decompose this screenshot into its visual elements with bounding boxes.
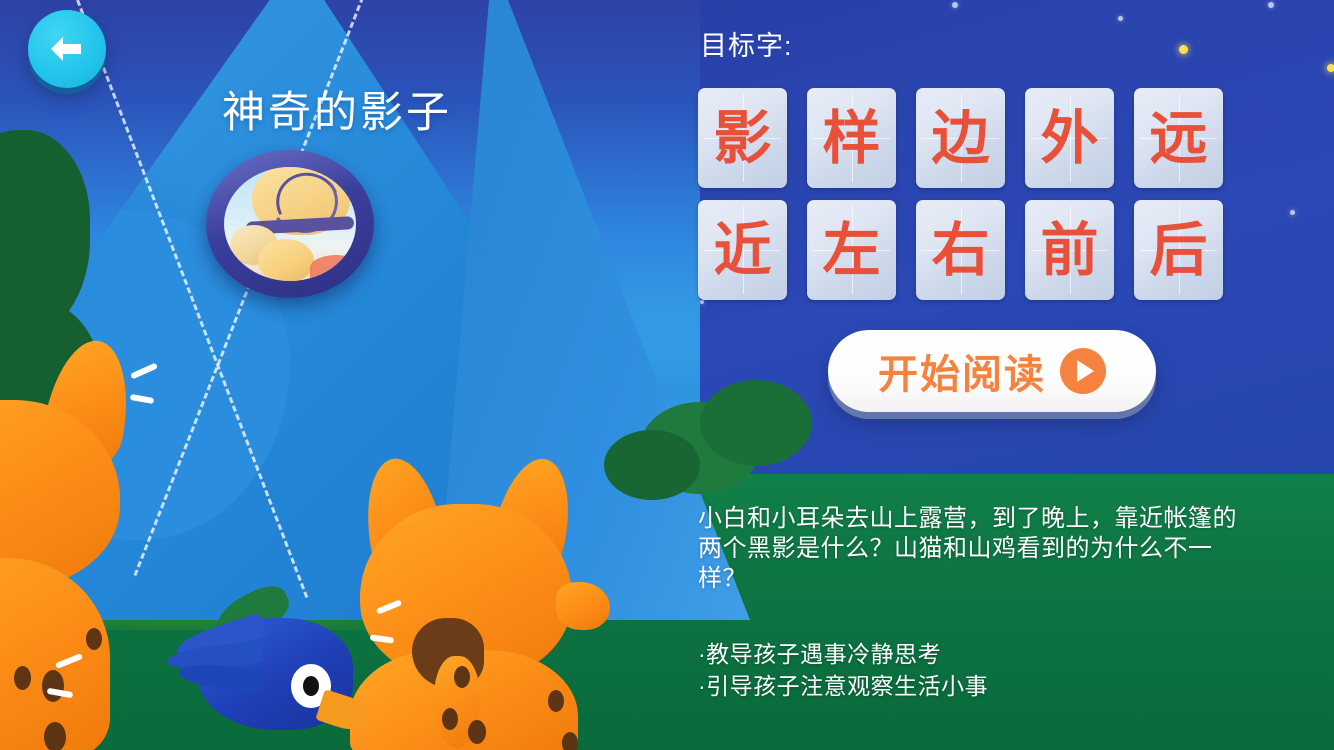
- target-chars-label: 目标字:: [700, 24, 793, 63]
- badge-illustration: [224, 167, 356, 281]
- target-character-grid: 影 样 边 外 远 近 左 右 前 后: [698, 88, 1223, 300]
- char-glyph: 外: [1040, 109, 1098, 167]
- badge-shape: [258, 239, 314, 281]
- char-glyph: 边: [931, 109, 989, 167]
- page-title: 神奇的影子: [222, 78, 452, 140]
- badge-shape: [310, 255, 356, 281]
- start-reading-button[interactable]: 开始阅读: [828, 330, 1156, 412]
- fox-spot: [454, 666, 470, 688]
- fox-spot: [86, 628, 102, 650]
- fox-spot: [442, 708, 458, 730]
- bird-character: [195, 620, 395, 750]
- fox-spot: [44, 722, 66, 750]
- char-card-bian[interactable]: 边: [916, 88, 1005, 188]
- fox-spot: [42, 670, 64, 702]
- bird-pupil: [303, 676, 319, 696]
- fox-spot: [468, 720, 486, 744]
- char-card-yang[interactable]: 样: [807, 88, 896, 188]
- char-glyph: 前: [1040, 221, 1098, 279]
- char-glyph: 近: [713, 221, 771, 279]
- char-glyph: 影: [713, 109, 771, 167]
- arrow-left-icon: [47, 33, 87, 65]
- whisker-line: [130, 363, 158, 380]
- story-detail-screen: 神奇的影子: [0, 0, 1334, 750]
- char-card-ying[interactable]: 影: [698, 88, 787, 188]
- char-glyph: 远: [1149, 109, 1207, 167]
- learning-point: ·教导孩子遇事冷静思考: [698, 638, 1258, 670]
- play-icon: [1060, 348, 1106, 394]
- char-card-zuo[interactable]: 左: [807, 200, 896, 300]
- char-card-hou[interactable]: 后: [1134, 200, 1223, 300]
- char-glyph: 后: [1149, 221, 1207, 279]
- story-cover-badge: [206, 150, 374, 298]
- char-card-you[interactable]: 右: [916, 200, 1005, 300]
- back-button[interactable]: [28, 10, 106, 88]
- learning-points-list: ·教导孩子遇事冷静思考 ·引导孩子注意观察生活小事: [698, 638, 1258, 702]
- fox-spot: [548, 690, 564, 712]
- fox-spot: [562, 732, 578, 750]
- char-card-wai[interactable]: 外: [1025, 88, 1114, 188]
- whisker-line: [130, 394, 155, 404]
- char-card-yuan[interactable]: 远: [1134, 88, 1223, 188]
- fox-tail: [556, 582, 610, 630]
- story-info-panel: 目标字: 影 样 边 外 远 近 左 右 前 后 开始阅读 小白和小耳朵去山上露…: [690, 0, 1334, 750]
- char-glyph: 样: [822, 109, 880, 167]
- start-reading-label: 开始阅读: [878, 342, 1046, 400]
- bird-beak: [315, 689, 372, 735]
- char-glyph: 右: [931, 221, 989, 279]
- char-glyph: 左: [822, 221, 880, 279]
- char-card-jin[interactable]: 近: [698, 200, 787, 300]
- learning-point: ·引导孩子注意观察生活小事: [698, 670, 1258, 702]
- char-card-qian[interactable]: 前: [1025, 200, 1114, 300]
- fox-spot: [14, 666, 31, 690]
- play-triangle: [1077, 360, 1094, 382]
- story-description: 小白和小耳朵去山上露营，到了晚上，靠近帐篷的两个黑影是什么？山猫和山鸡看到的为什…: [698, 504, 1242, 594]
